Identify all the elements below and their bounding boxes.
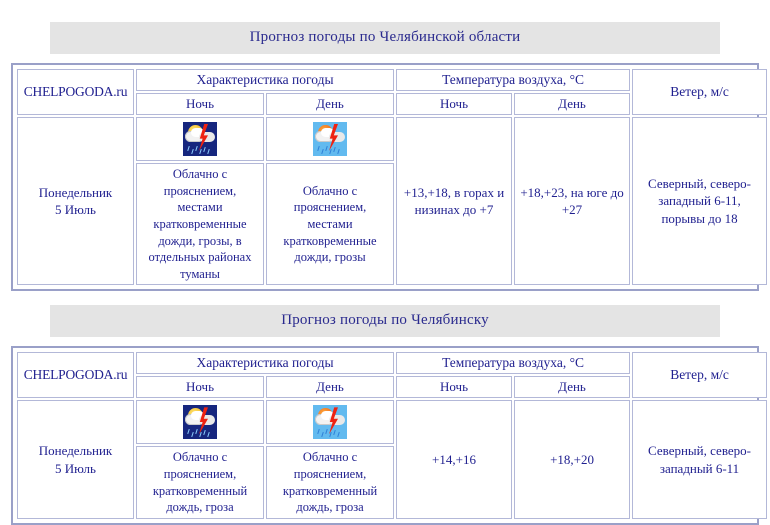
forecast-day-label: Понедельник 5 Июль	[17, 117, 134, 285]
night-weather-description: Облачно с прояснением, кратковременный д…	[136, 446, 264, 519]
header-wind: Ветер, м/с	[632, 352, 767, 398]
table-header-row-top: CHELPOGODA.ru Характеристика погоды Темп…	[17, 69, 767, 91]
header-weather-characteristics: Характеристика погоды	[136, 352, 394, 374]
header-wind: Ветер, м/с	[632, 69, 767, 115]
table-header-row-top: CHELPOGODA.ru Характеристика погоды Темп…	[17, 352, 767, 374]
rain-drops-glyph	[317, 146, 341, 155]
thunderstorm-day-icon	[313, 122, 347, 156]
wind-value: Северный, северо-западный 6-11, порывы д…	[632, 117, 767, 285]
rain-drops-glyph	[187, 146, 211, 155]
table-row: Понедельник 5 Июль	[17, 400, 767, 444]
city-forecast-table-wrapper: CHELPOGODA.ru Характеристика погоды Темп…	[11, 346, 759, 525]
temp-day-value: +18,+23, на юге до +27	[514, 117, 630, 285]
thunderstorm-night-icon	[183, 405, 217, 439]
table-row: Понедельник 5 Июль	[17, 117, 767, 161]
day-weather-description: Облачно с прояснением, кратковременный д…	[266, 446, 394, 519]
day-of-week: Понедельник	[39, 443, 112, 458]
day-of-week: Понедельник	[39, 185, 112, 200]
temp-night-value: +14,+16	[396, 400, 512, 519]
region-forecast-title: Прогноз погоды по Челябинской области	[50, 22, 720, 54]
site-logo: CHELPOGODA.ru	[17, 69, 134, 115]
header-temp-day: День	[514, 93, 630, 115]
site-logo: CHELPOGODA.ru	[17, 352, 134, 398]
weather-forecast-page: Прогноз погоды по Челябинской области CH…	[0, 0, 770, 513]
header-weather-day: День	[266, 376, 394, 398]
header-weather-night: Ночь	[136, 93, 264, 115]
header-temp-night: Ночь	[396, 376, 512, 398]
region-forecast-table: CHELPOGODA.ru Характеристика погоды Темп…	[15, 67, 769, 287]
rain-drops-glyph	[187, 429, 211, 438]
day-date: 5 Июль	[55, 202, 96, 217]
rain-drops-glyph	[317, 429, 341, 438]
day-date: 5 Июль	[55, 461, 96, 476]
header-temp-day: День	[514, 376, 630, 398]
region-forecast-table-wrapper: CHELPOGODA.ru Характеристика погоды Темп…	[11, 63, 759, 291]
header-weather-night: Ночь	[136, 376, 264, 398]
city-forecast-table: CHELPOGODA.ru Характеристика погоды Темп…	[15, 350, 769, 521]
city-forecast-title: Прогноз погоды по Челябинску	[50, 305, 720, 337]
header-weather-characteristics: Характеристика погоды	[136, 69, 394, 91]
header-air-temperature: Температура воздуха, °C	[396, 352, 630, 374]
region-title-wrap: Прогноз погоды по Челябинской области	[0, 0, 770, 54]
forecast-day-label: Понедельник 5 Июль	[17, 400, 134, 519]
thunderstorm-day-icon	[313, 405, 347, 439]
header-air-temperature: Температура воздуха, °C	[396, 69, 630, 91]
night-weather-description: Облачно с прояснением, местами кратковре…	[136, 163, 264, 285]
night-weather-icon-cell	[136, 117, 264, 161]
temp-day-value: +18,+20	[514, 400, 630, 519]
city-title-wrap: Прогноз погоды по Челябинску	[0, 291, 770, 337]
header-weather-day: День	[266, 93, 394, 115]
temp-night-value: +13,+18, в горах и низинах до +7	[396, 117, 512, 285]
wind-value: Северный, северо-западный 6-11	[632, 400, 767, 519]
thunderstorm-night-icon	[183, 122, 217, 156]
night-weather-icon-cell	[136, 400, 264, 444]
day-weather-icon-cell	[266, 400, 394, 444]
header-temp-night: Ночь	[396, 93, 512, 115]
day-weather-description: Облачно с прояснением, местами кратковре…	[266, 163, 394, 285]
day-weather-icon-cell	[266, 117, 394, 161]
